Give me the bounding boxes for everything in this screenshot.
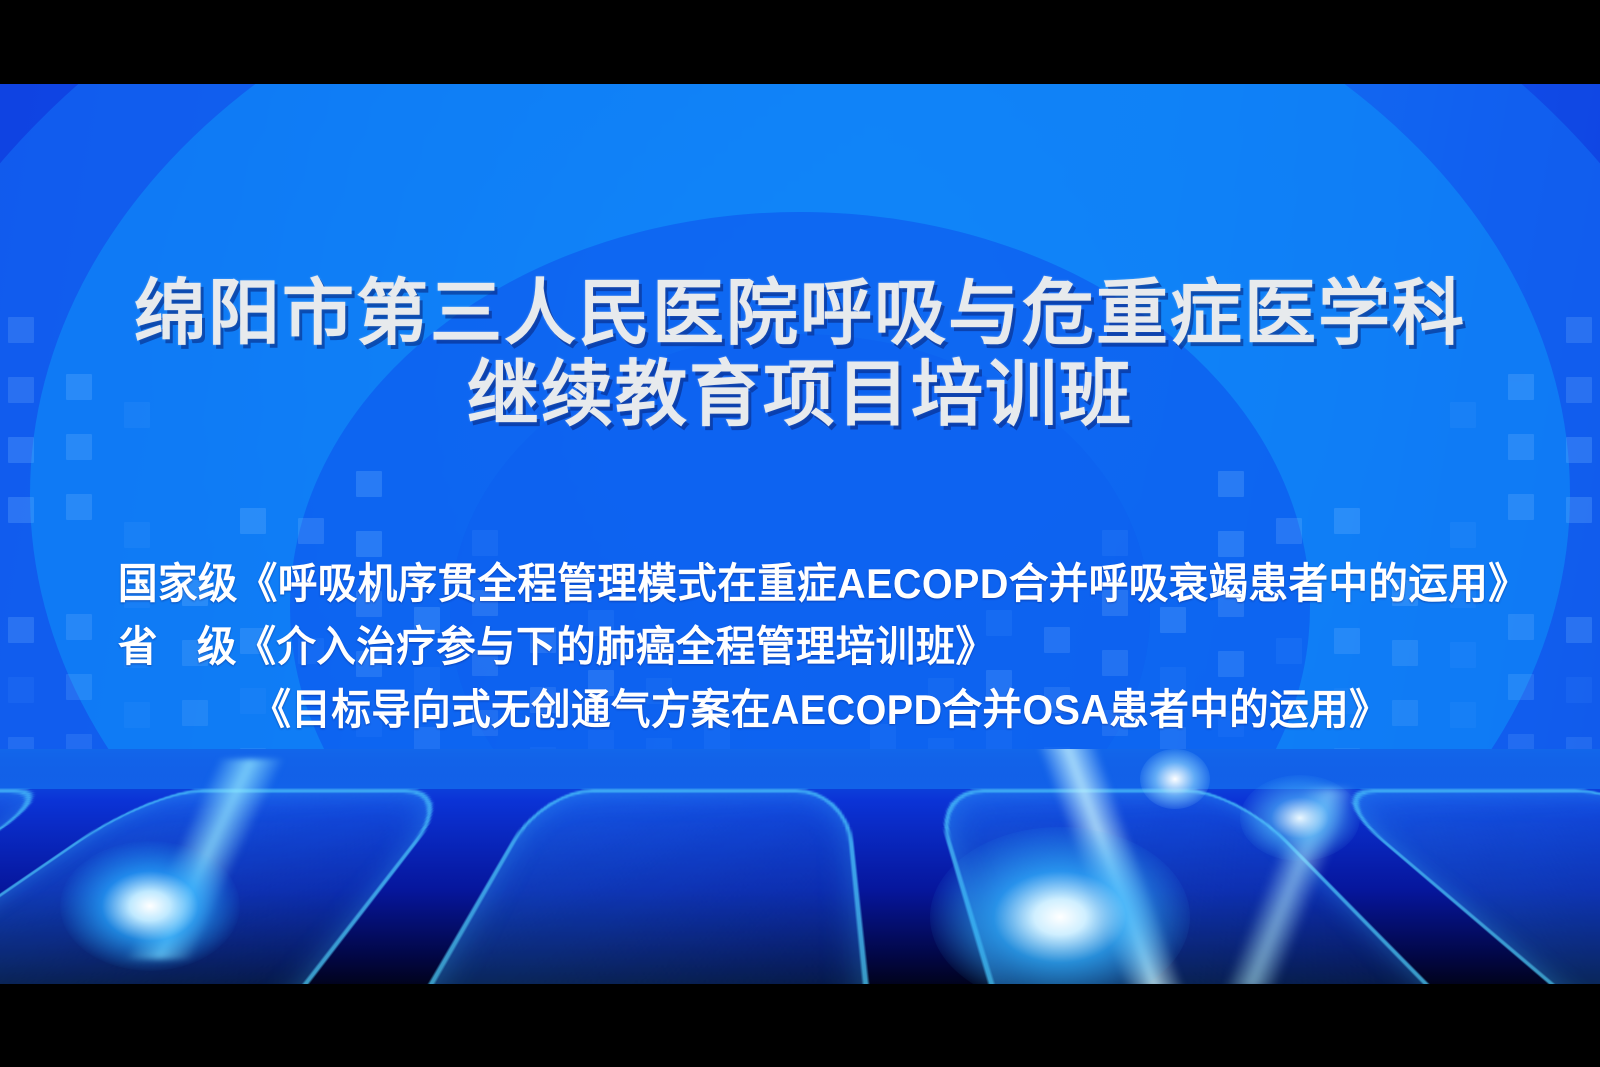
slide-canvas: 绵阳市第三人民医院呼吸与危重症医学科 继续教育项目培训班 国家级《呼吸机序贯全程… — [0, 84, 1600, 984]
program-level-2: 省 级 — [118, 615, 236, 678]
banner-content: 绵阳市第三人民医院呼吸与危重症医学科 继续教育项目培训班 国家级《呼吸机序贯全程… — [0, 84, 1600, 984]
program-course-2: 《介入治疗参与下的肺癌全程管理培训班》 — [236, 623, 995, 670]
program-line-1: 国家级《呼吸机序贯全程管理模式在重症AECOPD合并呼吸衰竭患者中的运用》 — [118, 552, 1511, 615]
letterbox-top — [0, 0, 1600, 84]
title-line-1: 绵阳市第三人民医院呼吸与危重症医学科 — [0, 274, 1600, 355]
banner-title: 绵阳市第三人民医院呼吸与危重症医学科 继续教育项目培训班 — [0, 274, 1600, 435]
letterbox-bottom — [0, 984, 1600, 1067]
program-line-3: 《目标导向式无创通气方案在AECOPD合并OSA患者中的运用》 — [118, 678, 1511, 741]
program-course-1: 《呼吸机序贯全程管理模式在重症AECOPD合并呼吸衰竭患者中的运用》 — [238, 560, 1528, 607]
program-course-3: 《目标导向式无创通气方案在AECOPD合并OSA患者中的运用》 — [251, 686, 1389, 733]
program-level-1: 国家级 — [118, 552, 238, 615]
title-line-2: 继续教育项目培训班 — [0, 355, 1600, 436]
program-list: 国家级《呼吸机序贯全程管理模式在重症AECOPD合并呼吸衰竭患者中的运用》 省 … — [0, 552, 1600, 741]
slide-stage: 绵阳市第三人民医院呼吸与危重症医学科 继续教育项目培训班 国家级《呼吸机序贯全程… — [0, 0, 1600, 1067]
program-line-2: 省 级《介入治疗参与下的肺癌全程管理培训班》 — [118, 615, 1511, 678]
